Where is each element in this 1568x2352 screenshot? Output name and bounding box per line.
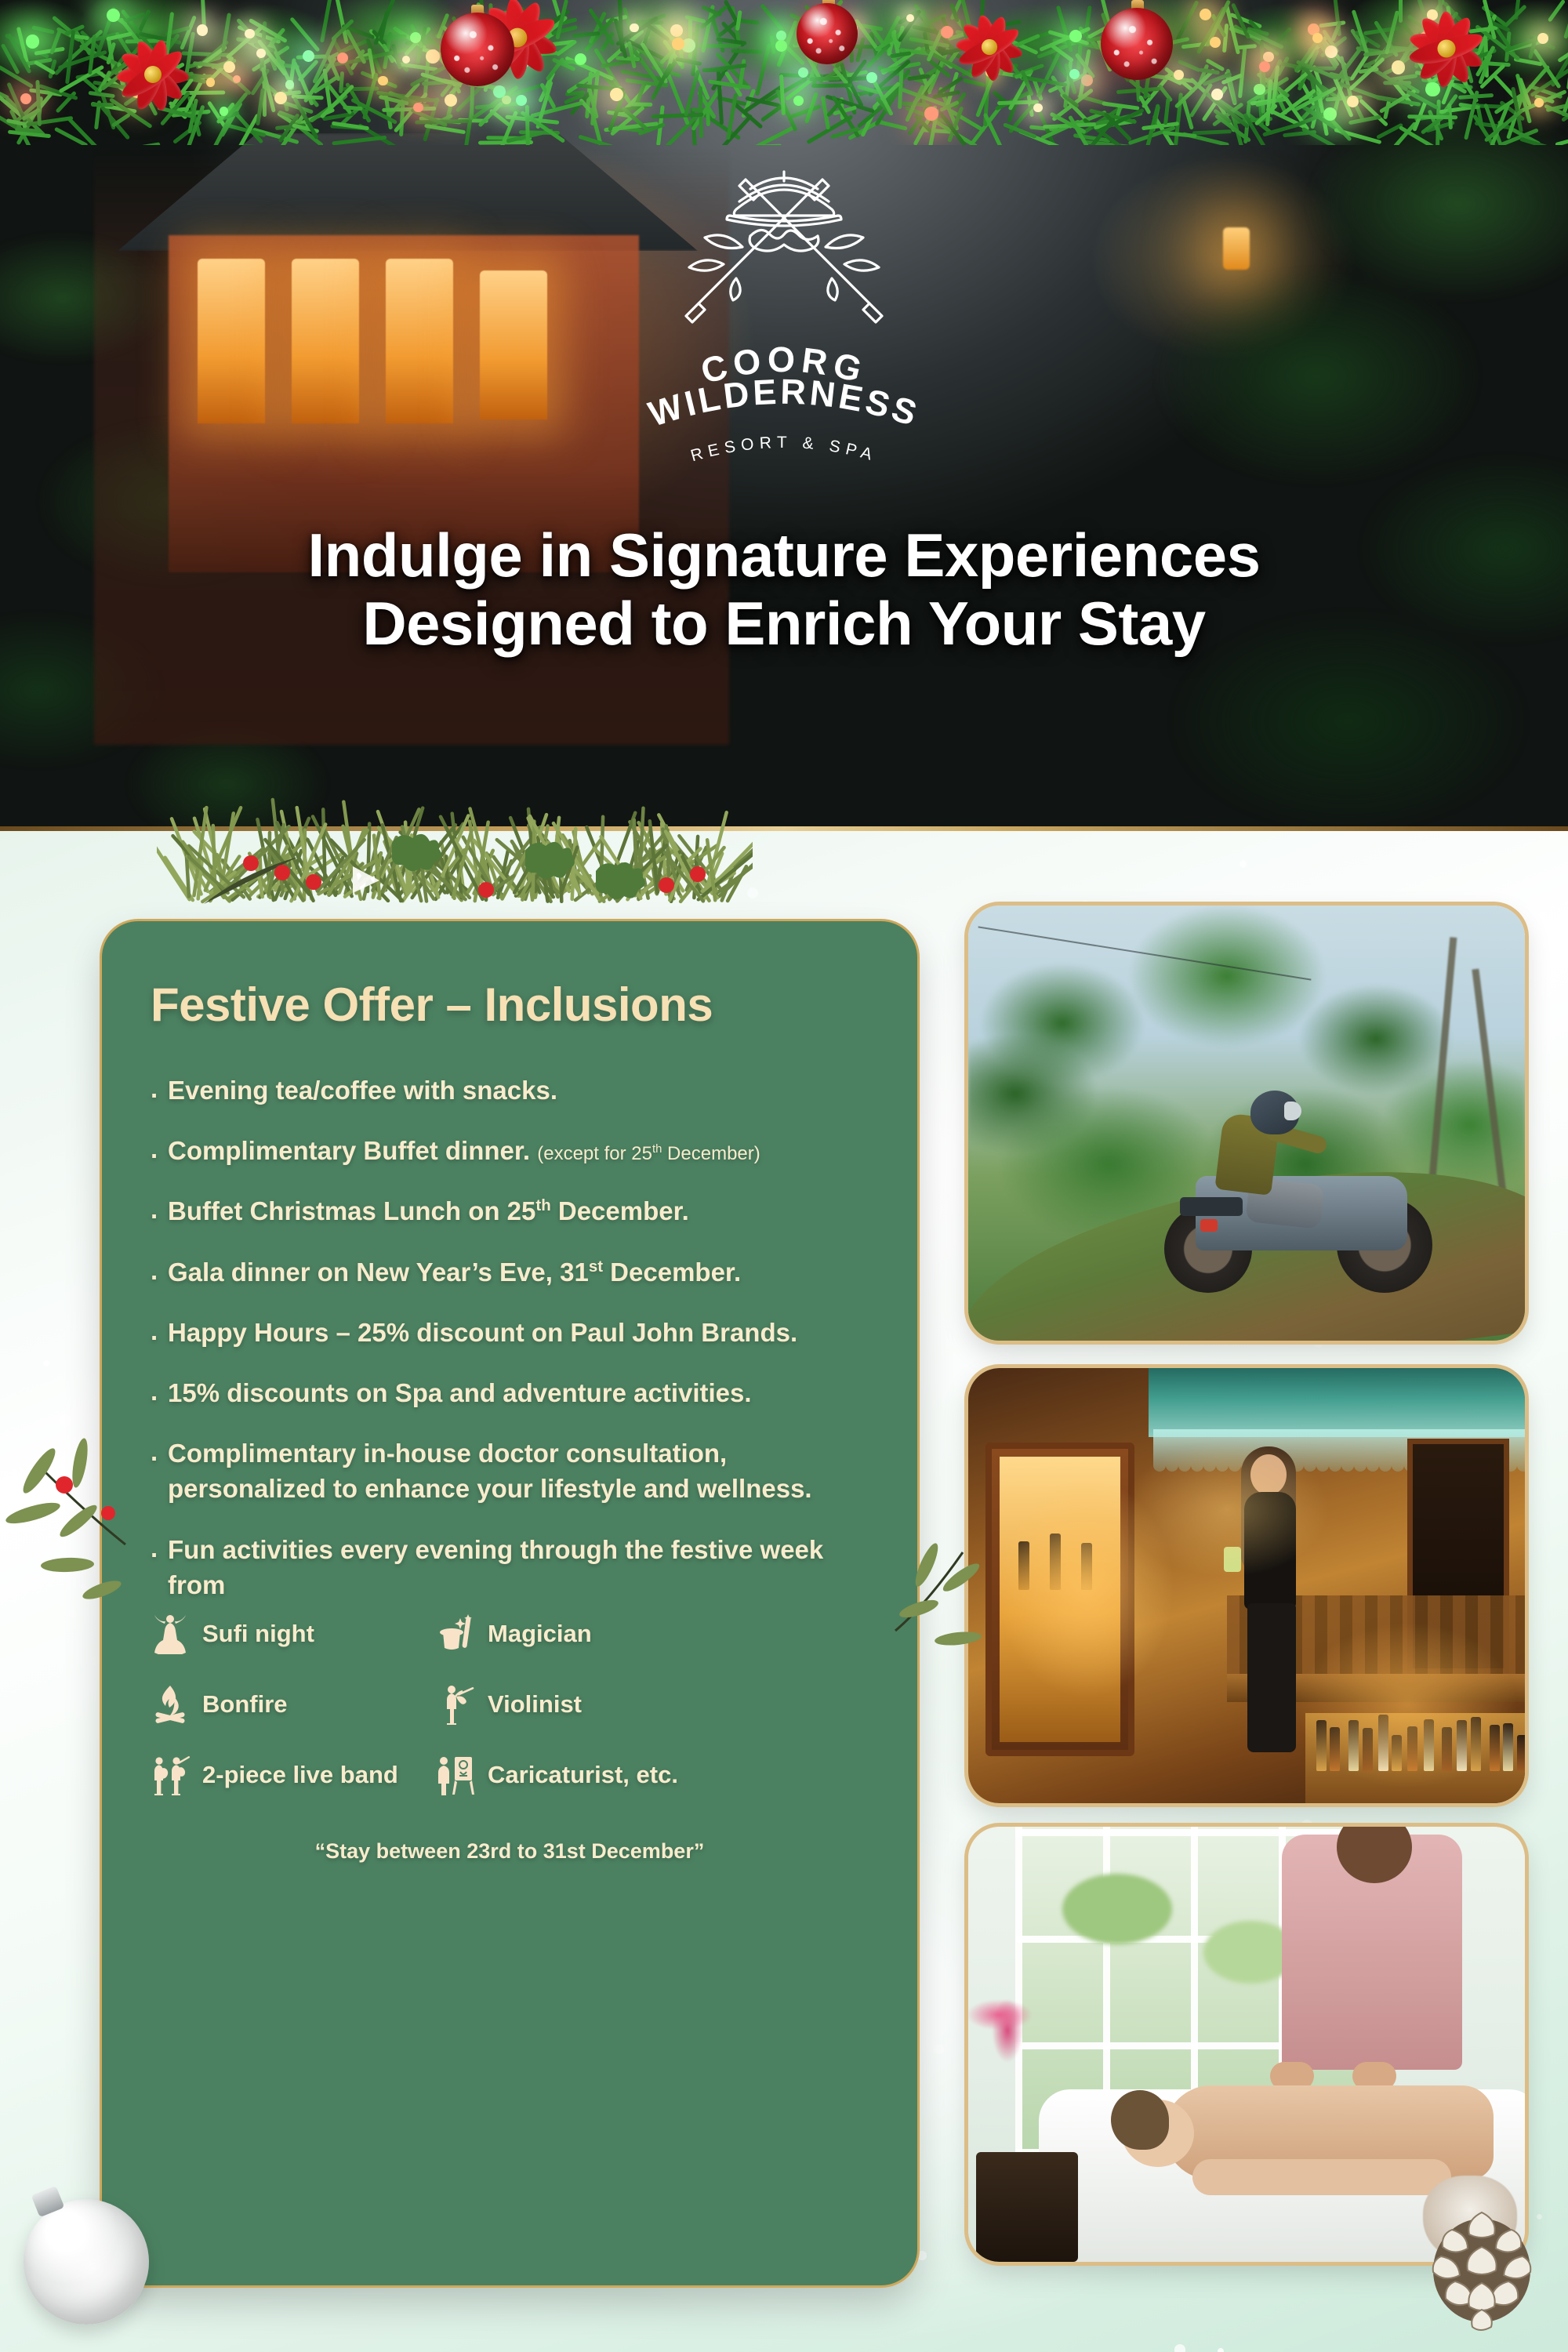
lit-window [480,270,547,419]
sufi-dancer-icon [151,1613,190,1654]
magician-hat-wand-icon [436,1613,475,1654]
inclusion-item: Fun activities every evening through the… [147,1532,877,1602]
activity-label: Sufi night [202,1620,314,1648]
activity-item-sufi-night: Sufi night [151,1613,417,1654]
inclusion-item: Happy Hours – 25% discount on Paul John … [147,1315,877,1350]
activity-label: Magician [488,1620,592,1648]
garden-lantern [1223,227,1250,270]
inclusions-list: Evening tea/coffee with snacks. Complime… [147,1073,877,1602]
activity-item-violinist: Violinist [436,1684,702,1725]
bonfire-icon [151,1684,190,1725]
activity-label: Bonfire [202,1690,288,1719]
frosted-pinecone [1411,2195,1552,2332]
inclusion-item: Gala dinner on New Year’s Eve, 31st Dece… [147,1254,877,1290]
bar-lounge-photo [968,1368,1525,1803]
pine-sprig-with-berries [157,796,753,913]
olive-sprig-middle [886,1537,996,1748]
activity-label: Caricaturist, etc. [488,1761,678,1789]
inclusion-note: (except for 25th December) [537,1143,760,1164]
lit-window [386,259,453,423]
activities-grid: Sufi night Magician Bonfire Violinist 2-… [151,1613,856,1795]
inclusion-item: Complimentary Buffet dinner. (except for… [147,1133,877,1168]
live-band-icon [151,1755,190,1795]
inclusion-item: 15% discounts on Spa and adventure activ… [147,1375,877,1410]
violinist-icon [436,1684,475,1725]
brand-logo: COORG WILDERNESS RESORT & SPA [619,161,949,470]
svg-text:RESORT & SPA: RESORT & SPA [689,434,880,465]
atv-scene [968,906,1525,1341]
activity-item-magician: Magician [436,1613,702,1654]
brand-tagline: RESORT & SPA [689,434,880,465]
offer-title: Festive Offer – Inclusions [151,978,917,1032]
activity-item-bonfire: Bonfire [151,1684,417,1725]
activity-label: Violinist [488,1690,582,1719]
white-christmas-ball-ornament [24,2199,149,2325]
atv-adventure-photo [968,906,1525,1341]
activity-item-caricaturist: Caricaturist, etc. [436,1755,702,1795]
inclusion-item: Buffet Christmas Lunch on 25th December. [147,1193,877,1229]
hero-foliage-right [1019,47,1568,831]
caricaturist-easel-icon [436,1755,475,1795]
bar-scene [968,1368,1525,1803]
activity-label: 2-piece live band [202,1761,398,1789]
headline-line-2: Designed to Enrich Your Stay [0,590,1568,658]
mistletoe-sprig-left [0,1427,141,1662]
lit-window [198,259,265,423]
offer-footnote: “Stay between 23rd to 31st December” [102,1839,917,1864]
headline-line-1: Indulge in Signature Experiences [0,521,1568,590]
hero-section: COORG WILDERNESS RESORT & SPA Indulge in… [0,0,1568,831]
inclusion-item: Evening tea/coffee with snacks. [147,1073,877,1108]
lit-window [292,259,359,423]
pith-helmet-crossed-rifles-icon [655,161,913,325]
festive-offer-card: Festive Offer – Inclusions Evening tea/c… [102,921,917,2285]
hero-headline: Indulge in Signature Experiences Designe… [0,521,1568,659]
inclusion-item: Complimentary in-house doctor consultati… [147,1436,877,1506]
brand-wordmark: COORG WILDERNESS RESORT & SPA [619,321,949,470]
brand-name-line2: WILDERNESS [644,372,924,434]
svg-text:WILDERNESS: WILDERNESS [644,372,924,434]
activity-item-live-band: 2-piece live band [151,1755,417,1795]
